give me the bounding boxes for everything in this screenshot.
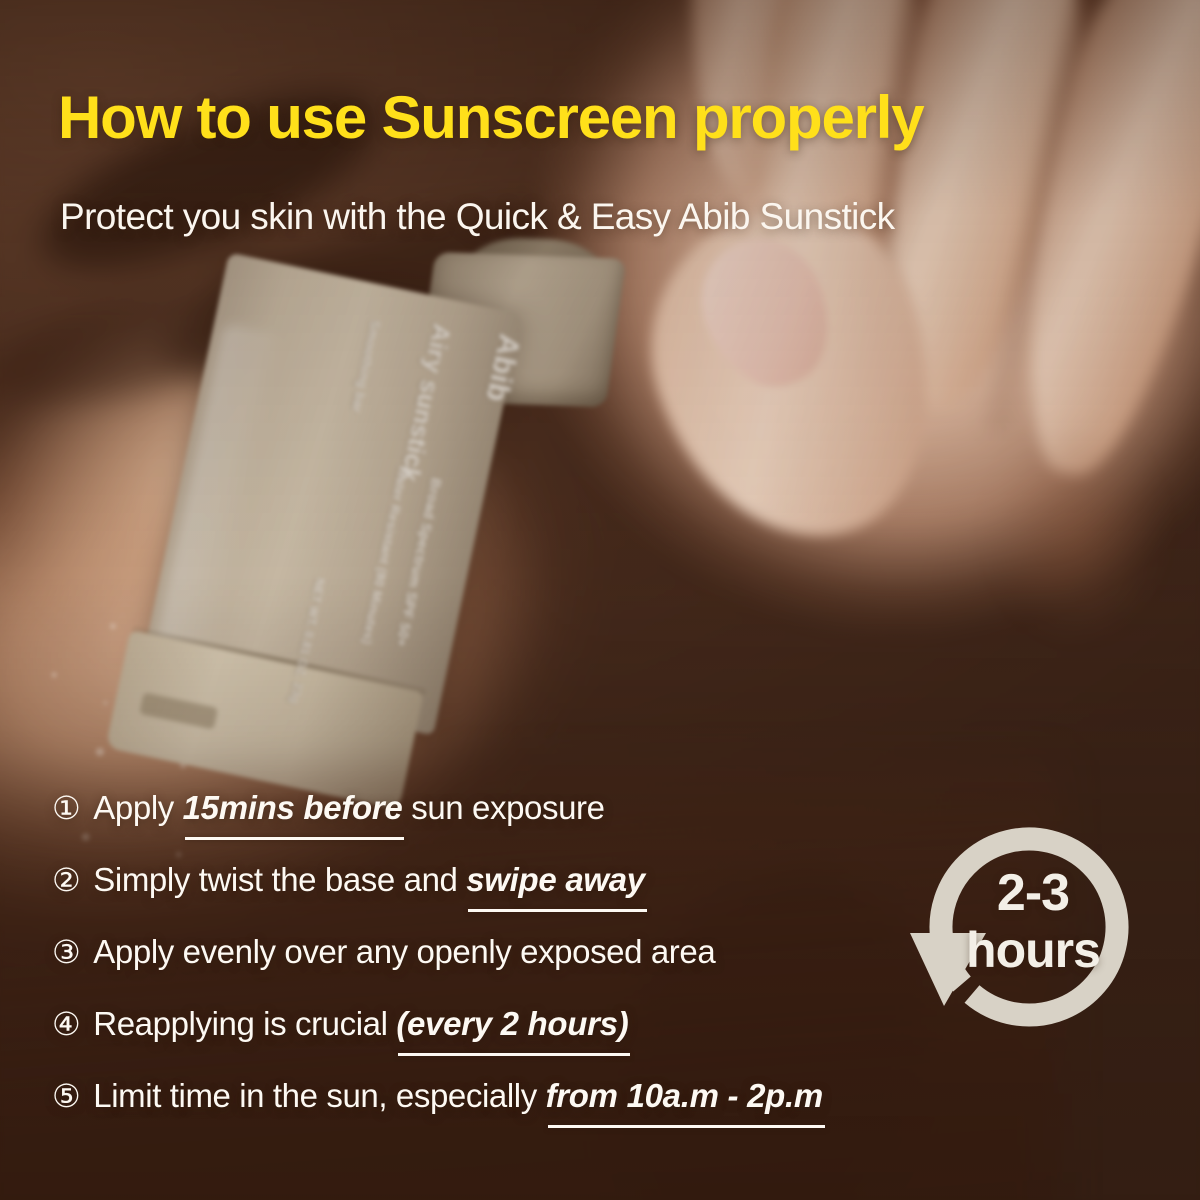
step-number: ① — [52, 792, 80, 824]
step-text-plain: Limit time in the sun, especially — [93, 1077, 545, 1114]
step-number: ② — [52, 864, 80, 896]
step-text-plain: Apply evenly over any openly exposed are… — [93, 933, 715, 970]
poster-content: How to use Sunscreen properly Protect yo… — [0, 0, 1200, 1200]
page-subtitle: Protect you skin with the Quick & Easy A… — [60, 196, 895, 238]
page-title: How to use Sunscreen properly — [58, 86, 923, 149]
step-number: ④ — [52, 1008, 80, 1040]
instruction-step: ④Reapplying is crucial (every 2 hours) — [52, 988, 982, 1060]
reapply-interval-badge: 2-3 hours — [900, 788, 1166, 1054]
badge-duration-unit: hours — [966, 925, 1100, 975]
step-text-plain: Reapplying is crucial — [93, 1005, 396, 1042]
instruction-step: ①Apply 15mins before sun exposure — [52, 772, 982, 844]
step-text: Simply twist the base and swipe away — [93, 861, 645, 899]
badge-duration-range: 2-3 — [997, 867, 1069, 919]
sunscreen-instruction-poster: Abib Airy sunstick Smoothing bar Broad S… — [0, 0, 1200, 1200]
step-text: Reapplying is crucial (every 2 hours) — [93, 1005, 628, 1043]
step-text-emphasis: swipe away — [466, 861, 645, 898]
step-text-plain: sun exposure — [402, 789, 604, 826]
instruction-steps-list: ①Apply 15mins before sun exposure②Simply… — [52, 772, 982, 1132]
step-text-emphasis: 15mins before — [183, 789, 403, 826]
step-text: Apply 15mins before sun exposure — [93, 789, 604, 827]
step-text-emphasis: from 10a.m - 2p.m — [546, 1077, 823, 1114]
instruction-step: ③Apply evenly over any openly exposed ar… — [52, 916, 982, 988]
step-number: ③ — [52, 936, 80, 968]
step-text-emphasis: (every 2 hours) — [396, 1005, 628, 1042]
instruction-step: ②Simply twist the base and swipe away — [52, 844, 982, 916]
step-text: Limit time in the sun, especially from 1… — [93, 1077, 823, 1115]
badge-text-group: 2-3 hours — [900, 788, 1166, 1054]
step-text-plain: Apply — [93, 789, 182, 826]
step-text: Apply evenly over any openly exposed are… — [93, 933, 715, 971]
instruction-step: ⑤Limit time in the sun, especially from … — [52, 1060, 982, 1132]
step-text-plain: Simply twist the base and — [93, 861, 466, 898]
step-number: ⑤ — [52, 1080, 80, 1112]
